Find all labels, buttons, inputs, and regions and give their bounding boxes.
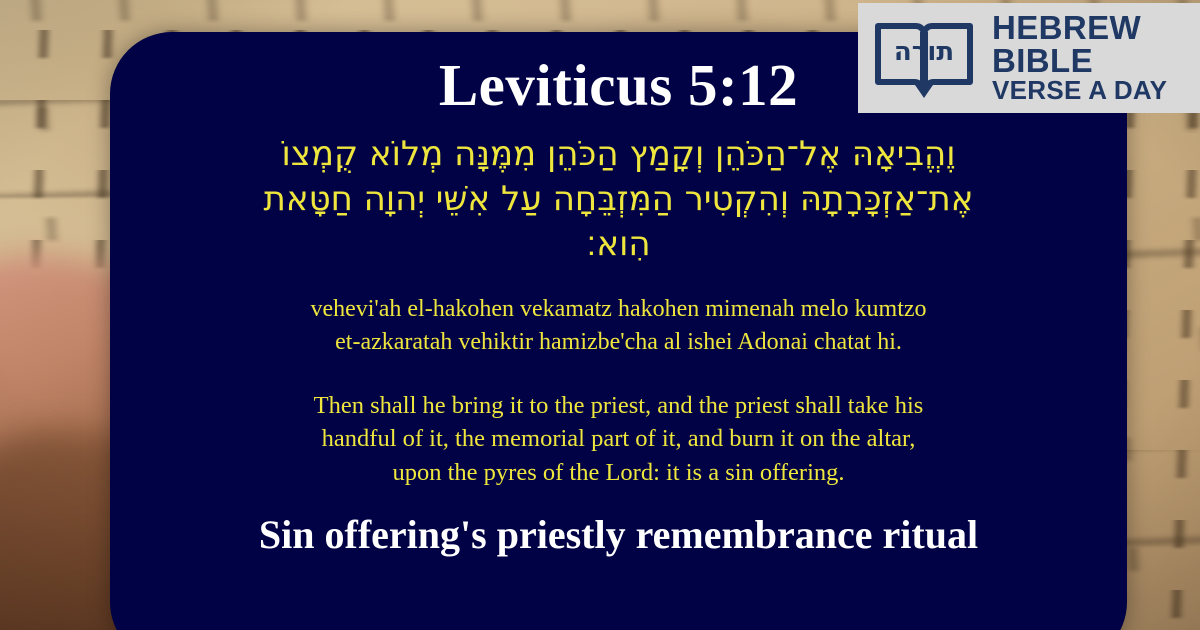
- transliteration-line-1: vehevi'ah el-hakohen vekamatz hakohen mi…: [199, 293, 1039, 326]
- hebrew-line-1: וֶהֱבִיאָהּ אֶל־הַכֹּהֵן וְקָמַץ הַכֹּהֵ…: [179, 132, 1059, 177]
- hebrew-line-3: הִוא׃: [179, 222, 1059, 267]
- brand-logo-badge[interactable]: תורה HEBREW BIBLE VERSE A DAY: [858, 3, 1200, 113]
- translation-line-2: handful of it, the memorial part of it, …: [199, 422, 1039, 456]
- verse-graphic: Leviticus 5:12 וֶהֱבִיאָהּ אֶל־הַכֹּהֵן …: [0, 0, 1200, 630]
- verse-content: Leviticus 5:12 וֶהֱבִיאָהּ אֶל־הַכֹּהֵן …: [110, 32, 1127, 630]
- translation-line-1: Then shall he bring it to the priest, an…: [199, 389, 1039, 423]
- brand-line-hebrew: HEBREW: [992, 12, 1167, 45]
- hebrew-verse-text: וֶהֱבִיאָהּ אֶל־הַכֹּהֵן וְקָמַץ הַכֹּהֵ…: [179, 132, 1059, 268]
- brand-wordmark: HEBREW BIBLE VERSE A DAY: [992, 12, 1167, 103]
- hebrew-line-2: אֶת־אַזְכָּרָתָהּ וְהִקְטִיר הַמִּזְבֵּח…: [179, 177, 1059, 222]
- transliteration-text: vehevi'ah el-hakohen vekamatz hakohen mi…: [199, 293, 1039, 358]
- english-translation-text: Then shall he bring it to the priest, an…: [199, 389, 1039, 490]
- transliteration-line-2: et-azkaratah vehiktir hamizbe'cha al ish…: [199, 326, 1039, 359]
- brand-line-bible: BIBLE: [992, 45, 1167, 78]
- verse-reference-title: Leviticus 5:12: [439, 54, 798, 118]
- translation-line-3: upon the pyres of the Lord: it is a sin …: [199, 456, 1039, 490]
- verse-summary-caption: Sin offering's priestly remembrance ritu…: [89, 513, 1149, 557]
- brand-line-verse-a-day: VERSE A DAY: [992, 78, 1167, 104]
- logo-hebrew-word: תורה: [894, 37, 954, 67]
- open-book-icon: תורה: [872, 12, 976, 104]
